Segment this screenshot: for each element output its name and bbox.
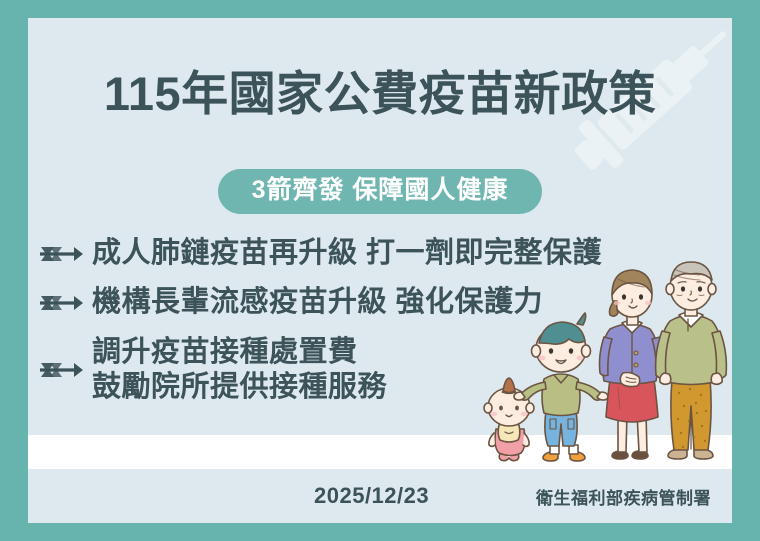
- arrow-dart-icon: [38, 241, 84, 267]
- list-item-line2: 鼓勵院所提供接種服務: [92, 370, 387, 405]
- list-item-line1: 調升疫苗接種處置費: [92, 336, 358, 368]
- list-item-line1: 機構長輩流感疫苗升級 強化保護力: [92, 286, 543, 318]
- arrow-dart-icon: [38, 290, 84, 316]
- footer-agency: 衛生福利部疾病管制署: [536, 484, 711, 509]
- list-item-label: 機構長輩流感疫苗升級 強化保護力: [92, 285, 543, 320]
- list-item-label: 調升疫苗接種處置費 鼓勵院所提供接種服務: [92, 335, 387, 406]
- poster-panel: 115年國家公費疫苗新政策 3箭齊發 保障國人健康 成人肺鏈疫苗再升級 打一劑即…: [28, 18, 732, 523]
- family-illustration: [478, 261, 730, 471]
- footer-bar: 2025/12/23 衛生福利部疾病管制署: [28, 469, 732, 523]
- footer-date: 2025/12/23: [314, 483, 429, 509]
- poster-root: 115年國家公費疫苗新政策 3箭齊發 保障國人健康 成人肺鏈疫苗再升級 打一劑即…: [0, 0, 760, 541]
- arrow-dart-icon: [38, 357, 84, 383]
- subtitle-badge-wrap: 3箭齊發 保障國人健康: [28, 169, 732, 214]
- figure-elderly-man: [656, 262, 727, 459]
- figure-woman: [600, 270, 665, 459]
- page-title: 115年國家公費疫苗新政策: [28, 70, 732, 117]
- subtitle-badge: 3箭齊發 保障國人健康: [218, 169, 543, 214]
